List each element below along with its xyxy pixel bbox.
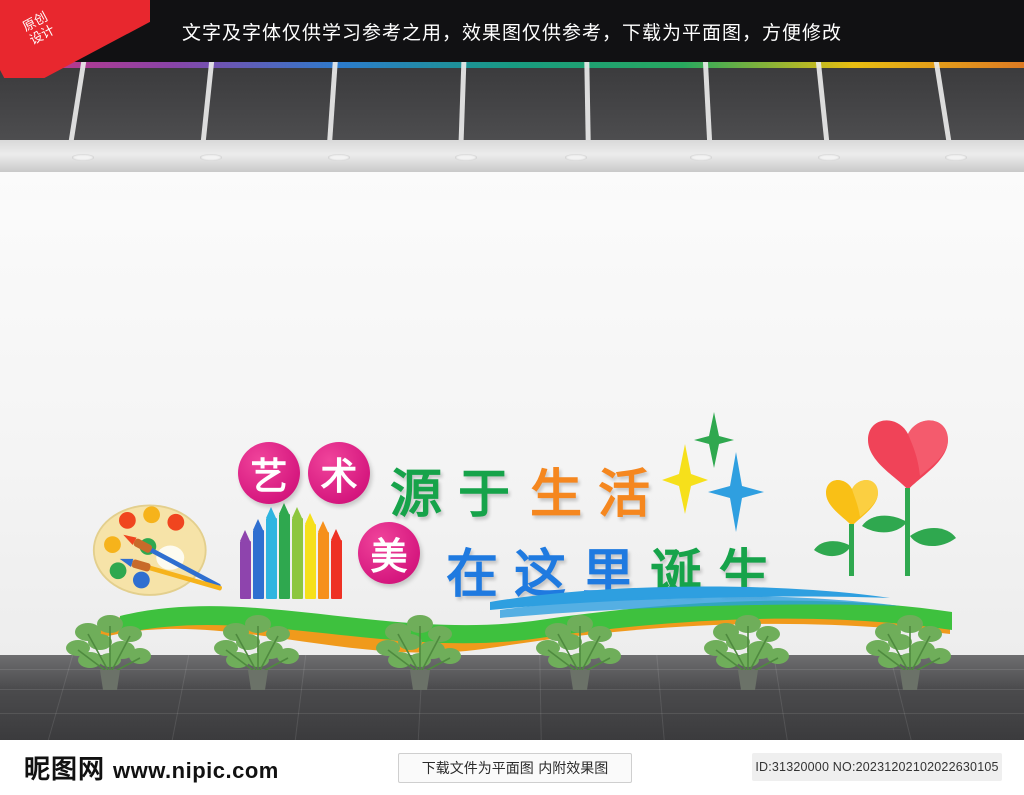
potted-plant (532, 612, 628, 692)
original-design-ribbon: 原创 设计 (0, 0, 150, 78)
potted-plant (862, 612, 958, 692)
potted-plant (372, 612, 468, 692)
ceiling-slat (816, 62, 829, 140)
slogan-char-yuan: 源 (390, 452, 442, 527)
heart-flowers-icon (790, 404, 970, 604)
top-notice-text: 文字及字体仅供学习参考之用，效果图仅供参考，下载为平面图，方便修改 (182, 18, 842, 45)
ceiling-slat (934, 62, 951, 140)
download-note: 下载文件为平面图 内附效果图 (398, 753, 632, 783)
slogan-char-yu: 于 (458, 452, 510, 527)
ceiling-soffit (0, 140, 1024, 173)
ceiling-slat (459, 62, 467, 140)
ceiling-light (328, 154, 350, 161)
badge-shu-char: 术 (321, 446, 358, 500)
ceiling-slat (201, 62, 214, 140)
site-logo-cn: 昵图网 (24, 749, 105, 786)
ceiling-light (690, 154, 712, 161)
badge-mei: 美 (358, 522, 420, 584)
ceiling-light (818, 154, 840, 161)
ceiling-slat (327, 62, 337, 140)
slogan-char-huo: 活 (598, 452, 650, 527)
site-logo-url: www.nipic.com (113, 758, 279, 784)
site-logo[interactable]: 昵图网 www.nipic.com (24, 749, 279, 786)
badge-yi: 艺 (238, 442, 300, 504)
asset-id-note: ID:31320000 NO:20231202102022630105 (752, 753, 1002, 781)
slogan-char-sheng: 生 (530, 452, 582, 527)
ceiling-slat (584, 62, 590, 140)
ceiling-light (72, 154, 94, 161)
ceiling-light (565, 154, 587, 161)
ceiling-color-strip (0, 62, 1024, 68)
badge-shu: 术 (308, 442, 370, 504)
top-notice-bar: 文字及字体仅供学习参考之用，效果图仅供参考，下载为平面图，方便修改 (0, 0, 1024, 62)
ceiling-slat (703, 62, 712, 140)
potted-plant (62, 612, 158, 692)
ceiling-light (945, 154, 967, 161)
badge-yi-char: 艺 (251, 446, 288, 500)
ceiling-light (455, 154, 477, 161)
potted-plant (210, 612, 306, 692)
sparkle-icon (708, 452, 764, 532)
screenshot-root: 文字及字体仅供学习参考之用，效果图仅供参考，下载为平面图，方便修改 原创 设计 (0, 0, 1024, 795)
badge-mei-char: 美 (371, 526, 408, 580)
potted-plant (700, 612, 796, 692)
ceiling (0, 62, 1024, 140)
wall: 艺 术 美 源 于 生 活 在 这 里 诞 生 (0, 172, 1024, 655)
ceiling-light (200, 154, 222, 161)
